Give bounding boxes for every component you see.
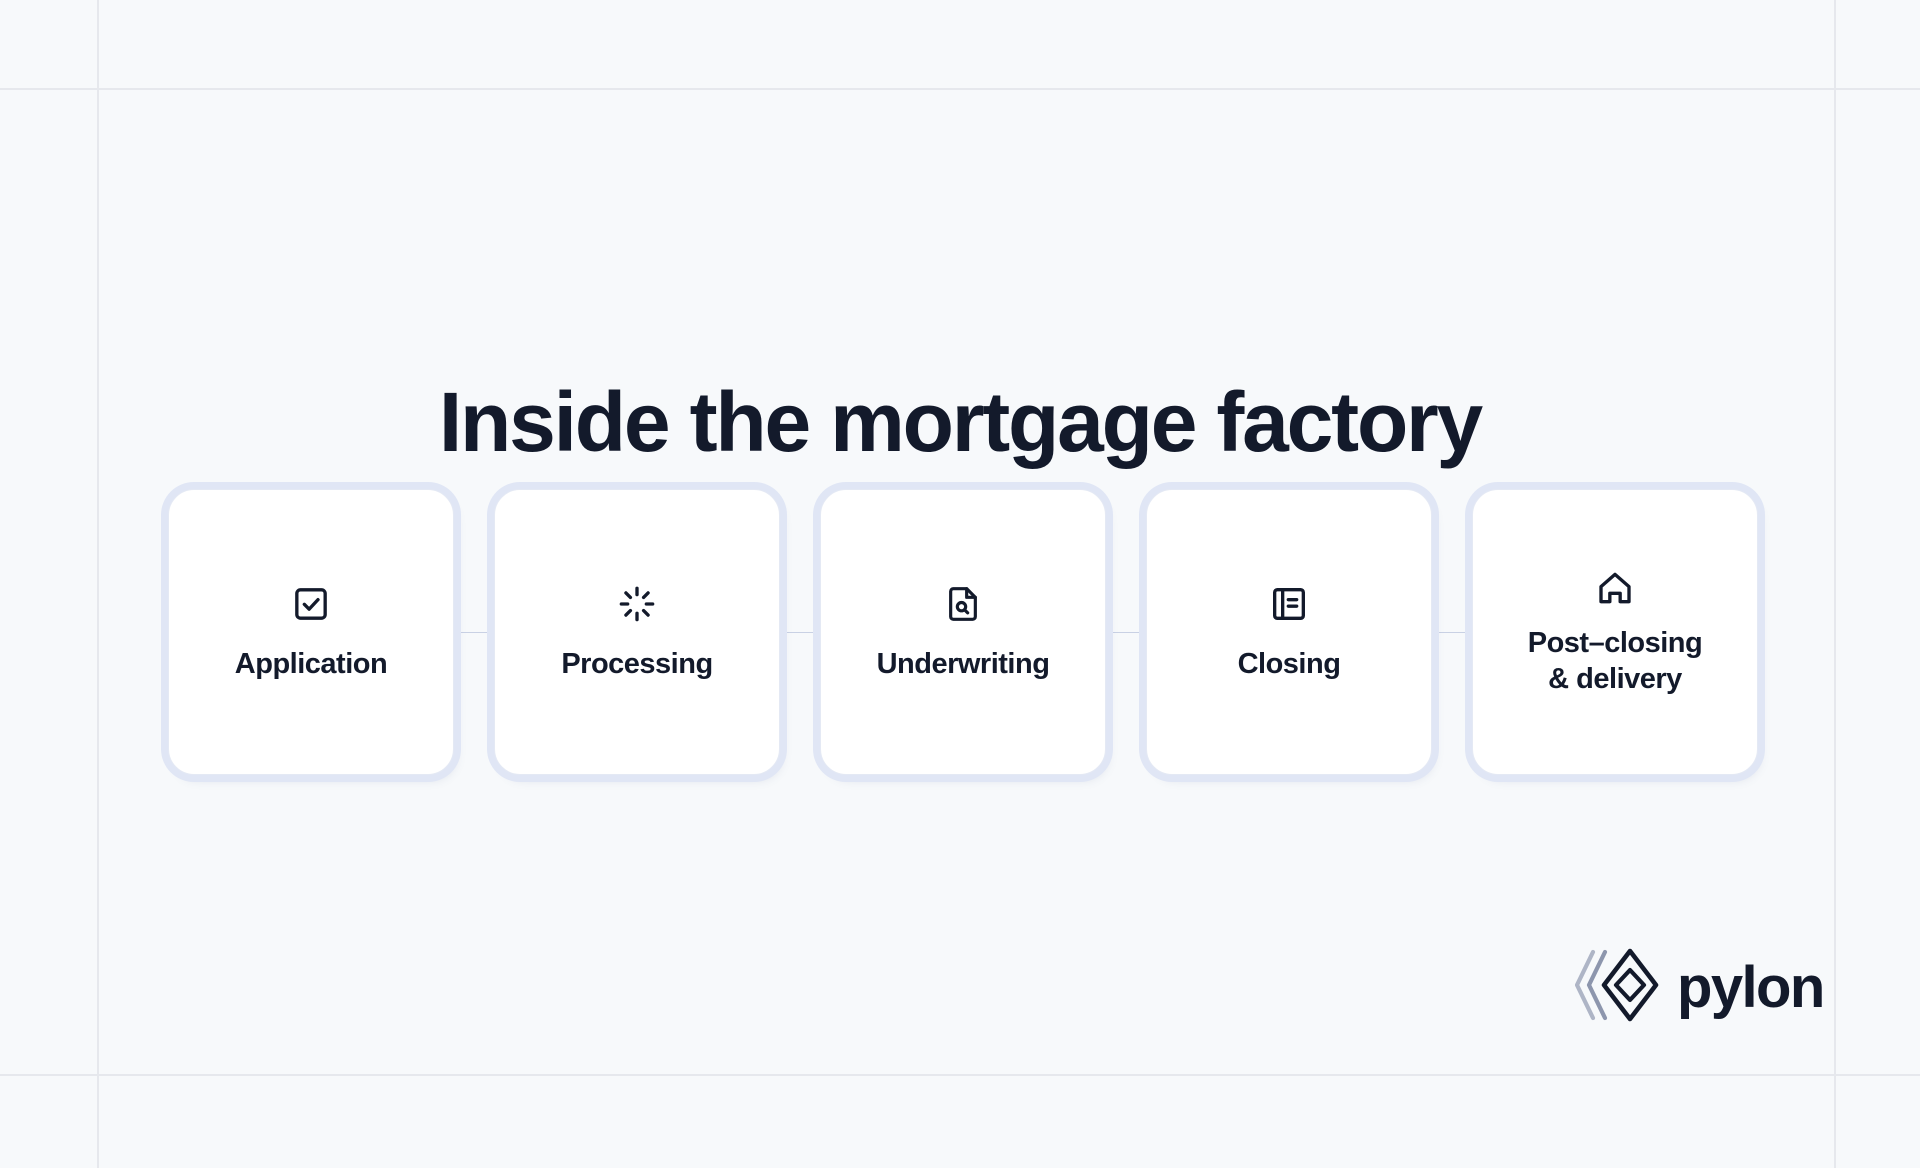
brand-wordmark: pylon [1677,959,1824,1017]
guide-line-left [97,0,99,1168]
flow-step-application[interactable]: Application [168,489,454,775]
mortgage-flow-steps: Application Processing [168,489,1758,775]
home-icon [1593,567,1637,611]
pylon-diamond-logo [1575,948,1661,1027]
square-check-icon [289,582,333,626]
flow-step-closing[interactable]: Closing [1146,489,1432,775]
flow-step-label: Post–closing & delivery [1528,625,1703,697]
guide-line-bottom [0,1074,1920,1076]
flow-step-label: Underwriting [877,646,1050,682]
flow-step-label: Closing [1238,646,1341,682]
book-ledger-icon [1267,582,1311,626]
flow-step-label: Processing [561,646,712,682]
loader-spinner-icon [615,582,659,626]
page-title: Inside the mortgage factory [0,374,1920,470]
flow-step-underwriting[interactable]: Underwriting [820,489,1106,775]
slide-canvas: Inside the mortgage factory Application [0,0,1920,1168]
flow-step-post-closing-delivery[interactable]: Post–closing & delivery [1472,489,1758,775]
flow-step-processing[interactable]: Processing [494,489,780,775]
guide-line-top [0,88,1920,90]
flow-step-label: Application [235,646,387,682]
brand-lockup: pylon [1575,948,1824,1027]
guide-line-right [1834,0,1836,1168]
file-search-icon [941,582,985,626]
